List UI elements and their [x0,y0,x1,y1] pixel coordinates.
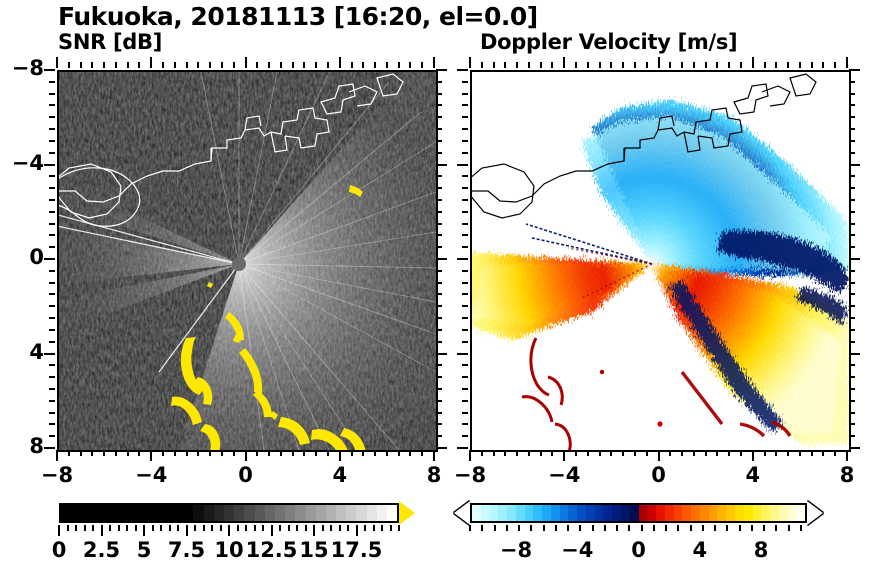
x-tick-snr [197,450,199,456]
colorbar-swatch [691,505,700,521]
x-tick-snr [162,450,164,456]
y-tick-right-snr [436,329,442,331]
y-tick-right-snr [436,341,442,343]
snr-colorbar[interactable] [59,503,399,525]
y-tick-doppler [457,164,468,166]
x-tick-top-snr [362,62,364,68]
x-tick-snr [68,450,70,456]
y-tick-right-snr [436,234,442,236]
y-tick-snr [49,364,55,366]
y-tick-snr [44,353,55,355]
y-tick-right-doppler [849,69,860,71]
y-tick-doppler [462,246,468,248]
colorbar-tick [356,525,358,536]
y-tick-doppler [457,258,468,260]
colorbar-swatch [132,505,142,521]
x-tick-top-snr [233,62,235,68]
y-tick-doppler [462,412,468,414]
y-tick-right-snr [436,412,442,414]
y-tick-snr [49,104,55,106]
colorbar-swatch [682,505,691,521]
doppler-panel-title: Doppler Velocity [m/s] [480,30,737,54]
y-tick-right-snr [436,317,442,319]
snr-colorbar-extend-arrow [399,501,415,525]
x-tick-label-snr: 0 [216,463,276,487]
x-tick-top-doppler [634,62,636,68]
snr-plot-area [57,70,438,452]
x-tick-snr [103,450,105,456]
colorbar-tick [518,525,520,531]
colorbar-swatch [367,505,377,521]
colorbar-swatch [665,505,674,521]
x-tick-top-doppler [728,62,730,68]
x-tick-snr [398,450,400,456]
y-tick-doppler [462,270,468,272]
colorbar-tick-label: 17.5 [317,538,397,562]
colorbar-swatch [796,505,805,521]
y-tick-doppler [462,140,468,142]
x-tick-top-snr [386,62,388,68]
y-tick-snr [49,282,55,284]
y-tick-snr [44,69,55,71]
x-tick-top-snr [91,62,93,68]
colorbar-swatch [753,505,762,521]
doppler-colorbar[interactable] [470,503,807,525]
colorbar-swatch [193,505,203,521]
colorbar-swatch [316,505,326,521]
y-tick-right-snr [436,270,442,272]
x-tick-top-snr [209,62,211,68]
colorbar-tick [296,525,298,531]
colorbar-tick [506,525,508,531]
y-tick-snr [49,388,55,390]
y-tick-doppler [462,305,468,307]
x-tick-top-doppler [658,57,660,68]
colorbar-tick [194,525,196,531]
x-tick-top-doppler [622,62,624,68]
x-tick-doppler [622,450,624,456]
colorbar-tick [604,525,606,531]
colorbar-swatch [336,505,346,521]
x-tick-doppler [716,450,718,456]
x-tick-top-doppler [504,62,506,68]
x-tick-top-snr [245,57,247,68]
colorbar-swatch [275,505,285,521]
x-tick-doppler [516,450,518,456]
x-tick-snr [303,450,305,456]
y-tick-snr [49,293,55,295]
x-tick-top-doppler [681,62,683,68]
x-tick-top-snr [127,62,129,68]
colorbar-swatch [71,505,81,521]
y-tick-right-snr [436,175,442,177]
colorbar-swatch [490,505,499,521]
colorbar-swatch [744,505,753,521]
colorbar-tick [530,525,532,531]
colorbar-tick [788,525,790,531]
x-tick-top-snr [303,62,305,68]
x-tick-doppler [705,450,707,456]
x-tick-label-doppler: −4 [534,463,594,487]
y-tick-right-doppler [849,164,860,166]
x-tick-doppler [764,450,766,456]
y-tick-snr [49,116,55,118]
y-tick-doppler [462,81,468,83]
y-tick-doppler [462,175,468,177]
colorbar-tick [739,525,741,531]
y-tick-right-snr [436,128,442,130]
y-tick-right-doppler [849,317,855,319]
x-tick-top-snr [221,62,223,68]
colorbar-swatch [761,505,770,521]
colorbar-swatch [586,505,595,521]
y-tick-right-doppler [849,128,855,130]
x-tick-top-snr [162,62,164,68]
y-tick-right-snr [436,81,442,83]
colorbar-tick [775,525,777,531]
colorbar-swatch [595,505,604,521]
y-tick-right-doppler [849,246,855,248]
y-tick-right-doppler [849,81,855,83]
y-tick-right-doppler [849,223,855,225]
colorbar-swatch [163,505,173,521]
x-tick-top-doppler [811,62,813,68]
colorbar-tick [592,525,594,531]
x-tick-top-snr [409,62,411,68]
y-tick-doppler [462,423,468,425]
colorbar-swatch [525,505,534,521]
x-tick-doppler [658,450,660,461]
colorbar-tick [579,525,581,531]
y-tick-right-snr [436,353,447,355]
x-tick-doppler [575,450,577,456]
colorbar-swatch [387,505,397,521]
colorbar-tick [330,525,332,531]
y-tick-doppler [457,69,468,71]
colorbar-swatch [224,505,234,521]
y-tick-right-doppler [849,199,855,201]
y-tick-snr [49,175,55,177]
colorbar-swatch [717,505,726,521]
y-tick-doppler [462,400,468,402]
y-tick-doppler [462,93,468,95]
x-tick-top-doppler [481,62,483,68]
x-tick-doppler [799,450,801,456]
y-tick-right-snr [436,104,442,106]
colorbar-tick [313,525,315,536]
colorbar-tick [702,525,704,531]
colorbar-swatch [700,505,709,521]
y-tick-label: 0 [2,245,44,269]
y-tick-doppler [462,388,468,390]
y-tick-right-snr [436,187,442,189]
y-tick-right-doppler [849,175,855,177]
y-tick-right-doppler [849,152,855,154]
x-tick-top-doppler [587,62,589,68]
x-tick-top-doppler [787,62,789,68]
x-tick-top-snr [339,57,341,68]
y-tick-doppler [462,211,468,213]
x-tick-top-doppler [646,62,648,68]
y-tick-right-doppler [849,270,855,272]
y-tick-right-snr [436,116,442,118]
x-tick-snr [209,450,211,456]
x-tick-doppler [669,450,671,456]
y-tick-doppler [462,317,468,319]
y-tick-right-snr [436,93,442,95]
x-tick-top-doppler [764,62,766,68]
colorbar-tick [714,525,716,531]
colorbar-swatch [61,505,71,521]
colorbar-swatch [533,505,542,521]
x-tick-doppler [563,450,565,461]
y-tick-right-doppler [849,376,855,378]
x-tick-top-doppler [493,62,495,68]
colorbar-swatch [143,505,153,521]
colorbar-swatch [726,505,735,521]
x-tick-top-snr [280,62,282,68]
x-tick-top-doppler [575,62,577,68]
x-tick-snr [268,450,270,456]
y-tick-doppler [462,223,468,225]
colorbar-swatch [81,505,91,521]
y-tick-right-snr [436,282,442,284]
x-tick-top-doppler [752,57,754,68]
y-tick-snr [49,128,55,130]
x-tick-top-doppler [551,62,553,68]
x-tick-label-doppler: 0 [629,463,689,487]
y-tick-doppler [457,353,468,355]
y-tick-right-snr [436,69,447,71]
y-tick-doppler [462,341,468,343]
x-tick-doppler [728,450,730,456]
snr-panel-title: SNR [dB] [58,30,162,54]
y-tick-label: −8 [2,56,44,80]
colorbar-swatch [577,505,586,521]
x-tick-doppler [693,450,695,456]
colorbar-tick [84,525,86,531]
y-tick-right-doppler [849,234,855,236]
colorbar-tick [177,525,179,531]
colorbar-swatch [481,505,490,521]
y-tick-right-doppler [849,305,855,307]
colorbar-swatch [295,505,305,521]
colorbar-tick [245,525,247,531]
colorbar-tick [288,525,290,531]
y-tick-right-doppler [849,447,860,449]
x-tick-snr [245,450,247,461]
x-tick-snr [221,450,223,456]
colorbar-tick [160,525,162,531]
colorbar-swatch [346,505,356,521]
colorbar-swatch [639,505,648,521]
colorbar-swatch [306,505,316,521]
colorbar-swatch [285,505,295,521]
doppler-colorbar-extend-arrow-high [807,501,823,525]
x-tick-snr [374,450,376,456]
x-tick-top-doppler [740,62,742,68]
y-tick-right-snr [436,388,442,390]
y-tick-snr [49,400,55,402]
x-tick-top-snr [351,62,353,68]
x-tick-label-snr: −8 [27,463,87,487]
x-tick-top-snr [80,62,82,68]
colorbar-tick [381,525,383,531]
y-tick-doppler [462,329,468,331]
colorbar-swatch [356,505,366,521]
y-tick-doppler [462,293,468,295]
y-tick-snr [44,258,55,260]
y-tick-snr [49,187,55,189]
colorbar-swatch [630,505,639,521]
y-tick-doppler [462,152,468,154]
colorbar-swatch [173,505,183,521]
y-tick-snr [49,93,55,95]
x-tick-snr [91,450,93,456]
colorbar-tick [118,525,120,531]
x-tick-doppler [599,450,601,456]
x-tick-top-doppler [834,62,836,68]
colorbar-tick [254,525,256,531]
x-tick-snr [56,450,58,461]
colorbar-tick [92,525,94,531]
radar-figure: Fukuoka, 20181113 [16:20, el=0.0] SNR [d… [0,0,870,570]
x-tick-snr [292,450,294,456]
y-tick-right-snr [436,164,447,166]
x-tick-doppler [740,450,742,456]
x-tick-top-snr [421,62,423,68]
colorbar-swatch [516,505,525,521]
y-tick-snr [49,317,55,319]
x-tick-label-doppler: 4 [723,463,783,487]
colorbar-swatch [377,505,387,521]
y-tick-right-doppler [849,341,855,343]
colorbar-swatch [498,505,507,521]
x-tick-top-doppler [528,62,530,68]
colorbar-tick [616,525,618,531]
y-tick-right-doppler [849,187,855,189]
colorbar-tick [677,525,679,531]
y-tick-snr [49,412,55,414]
colorbar-tick [543,525,545,531]
y-tick-snr [49,234,55,236]
y-tick-right-doppler [849,329,855,331]
y-tick-right-snr [436,293,442,295]
y-tick-label: 8 [2,434,44,458]
y-tick-right-snr [436,223,442,225]
x-tick-snr [80,450,82,456]
colorbar-tick [101,525,103,536]
x-tick-label-snr: −4 [121,463,181,487]
x-tick-top-doppler [693,62,695,68]
x-tick-doppler [822,450,824,456]
y-tick-snr [49,329,55,331]
x-tick-top-doppler [799,62,801,68]
y-tick-right-snr [436,376,442,378]
colorbar-swatch [603,505,612,521]
x-tick-snr [115,450,117,456]
y-tick-right-doppler [849,364,855,366]
colorbar-tick [220,525,222,531]
x-tick-top-snr [315,62,317,68]
colorbar-tick [665,525,667,531]
y-tick-doppler [462,187,468,189]
colorbar-swatch [779,505,788,521]
x-tick-top-snr [115,62,117,68]
colorbar-tick [75,525,77,531]
colorbar-swatch [788,505,797,521]
y-tick-right-snr [436,258,447,260]
y-tick-snr [49,435,55,437]
colorbar-swatch [102,505,112,521]
x-tick-top-doppler [540,62,542,68]
x-tick-top-snr [374,62,376,68]
colorbar-swatch [621,505,630,521]
colorbar-tick [279,525,281,531]
y-tick-right-snr [436,423,442,425]
y-tick-snr [49,81,55,83]
colorbar-tick [390,525,392,531]
y-tick-right-snr [436,435,442,437]
colorbar-tick [322,525,324,531]
x-tick-doppler [634,450,636,456]
y-tick-right-snr [436,140,442,142]
colorbar-tick [726,525,728,531]
x-tick-doppler [846,450,848,461]
colorbar-tick [169,525,171,531]
colorbar-tick [237,525,239,531]
x-tick-top-snr [138,62,140,68]
colorbar-swatch [112,505,122,521]
colorbar-swatch [551,505,560,521]
y-tick-right-snr [436,152,442,154]
x-tick-doppler [787,450,789,456]
colorbar-swatch [674,505,683,521]
x-tick-top-snr [433,57,435,68]
y-tick-right-doppler [849,211,855,213]
y-tick-right-doppler [849,388,855,390]
x-tick-top-doppler [822,62,824,68]
y-tick-snr [49,140,55,142]
colorbar-tick [763,525,765,531]
y-tick-snr [44,447,55,449]
x-tick-snr [327,450,329,456]
y-tick-right-doppler [849,93,855,95]
y-tick-snr [49,341,55,343]
y-tick-right-doppler [849,282,855,284]
colorbar-tick [186,525,188,536]
colorbar-swatch [472,505,481,521]
y-tick-right-snr [436,364,442,366]
y-tick-doppler [462,128,468,130]
x-tick-doppler [646,450,648,456]
y-tick-right-doppler [849,258,860,260]
y-tick-snr [49,305,55,307]
colorbar-tick [262,525,264,531]
x-tick-top-doppler [610,62,612,68]
x-tick-doppler [481,450,483,456]
colorbar-tick [109,525,111,531]
colorbar-tick [305,525,307,531]
colorbar-tick [364,525,366,531]
x-tick-doppler [681,450,683,456]
snr-radar-image [59,72,436,450]
snr-colorbar-ticks [59,525,399,536]
x-tick-top-snr [103,62,105,68]
colorbar-swatch [244,505,254,521]
colorbar-tick [398,525,400,531]
doppler-colorbar-gradient [470,503,807,523]
